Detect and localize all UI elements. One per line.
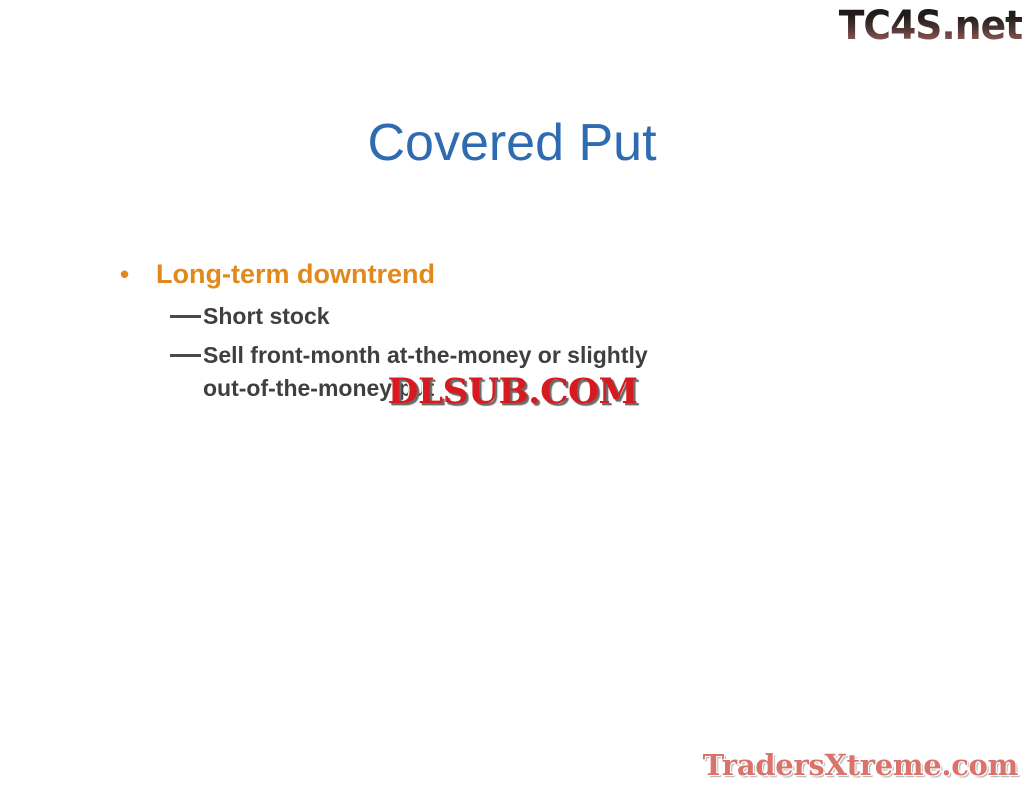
list-item: • Long-term downtrend bbox=[118, 254, 818, 294]
list-item: Short stock bbox=[170, 300, 818, 333]
bullet-level1-label: Long-term downtrend bbox=[156, 254, 818, 294]
tc4s-logo-text: TC4S.net bbox=[839, 5, 1022, 47]
page-title: Covered Put bbox=[0, 112, 1024, 174]
bullet-level2-label: Short stock bbox=[203, 300, 653, 333]
bullet-dot-icon: • bbox=[118, 254, 156, 294]
em-dash-icon bbox=[170, 339, 203, 372]
tradersxtreme-logo-text: TradersXtreme.com bbox=[703, 748, 1018, 782]
dlsub-watermark-text: DLSUB.COM bbox=[388, 373, 638, 411]
em-dash-icon bbox=[170, 300, 203, 333]
presentation-slide: TC4S.net Covered Put • Long-term downtre… bbox=[0, 0, 1024, 791]
tradersxtreme-logo: TradersXtreme.com bbox=[708, 744, 1018, 786]
tc4s-logo: TC4S.net bbox=[826, 0, 1022, 52]
dlsub-watermark: DLSUB.COM bbox=[370, 371, 656, 413]
